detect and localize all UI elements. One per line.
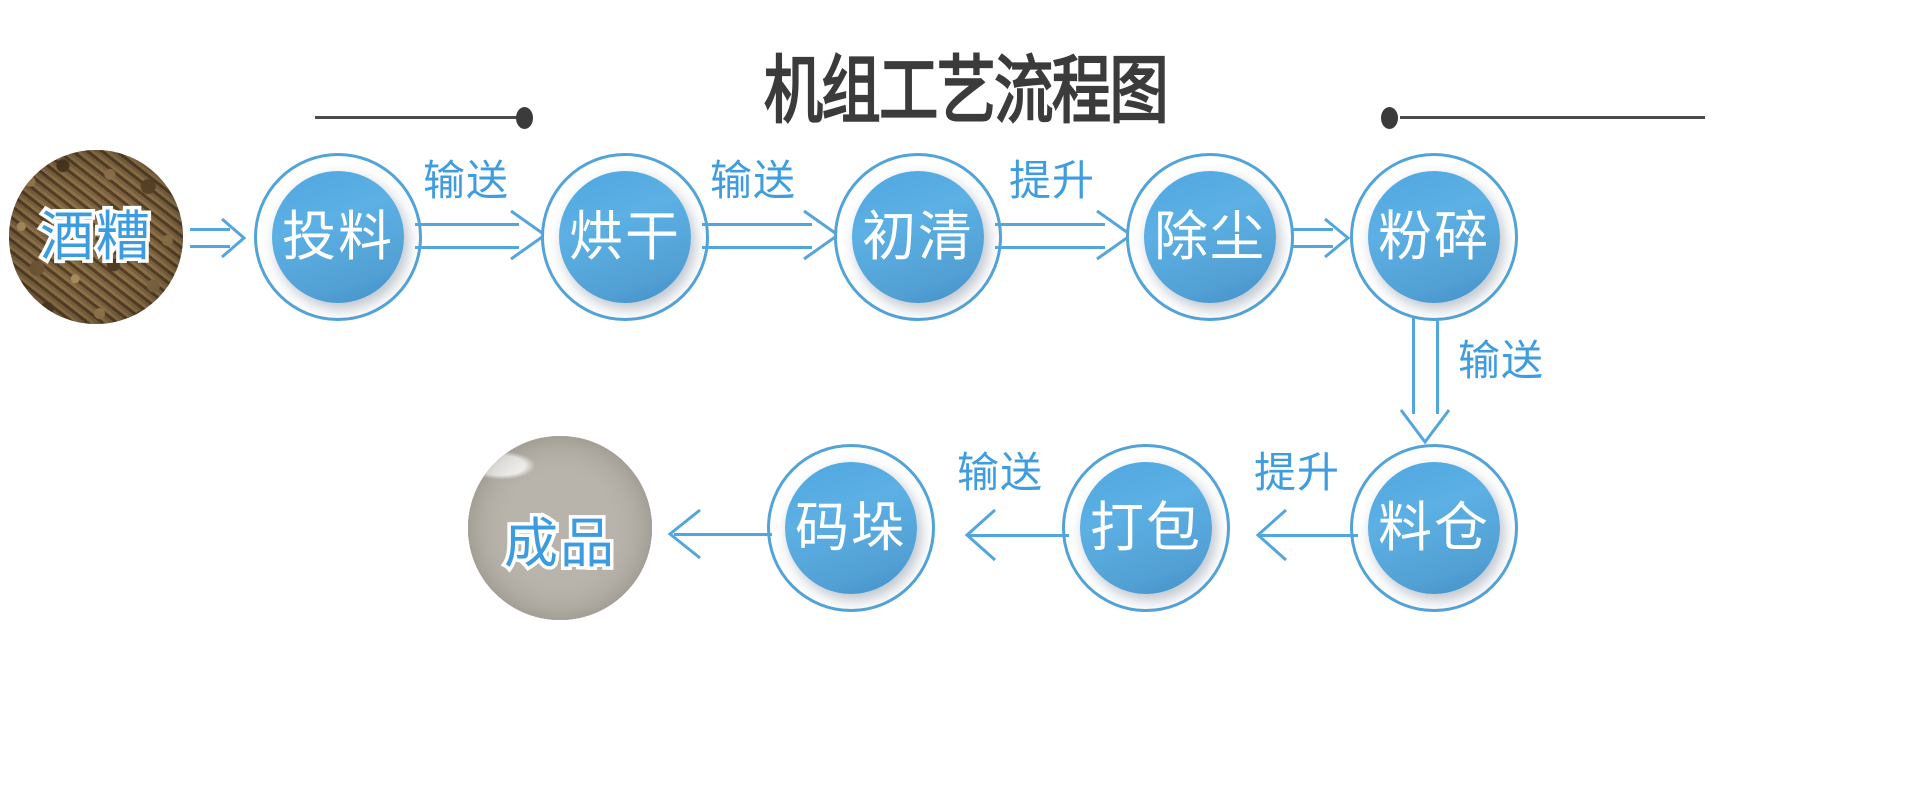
jiuzao-photo: 酒糟 <box>9 150 183 324</box>
liaocang-disc: 料仓 <box>1368 462 1500 594</box>
node-label-touliao: 投料 <box>282 210 394 264</box>
arrow-maduo-chengpin <box>648 508 772 560</box>
node-label-maduo: 码垛 <box>795 501 907 555</box>
fensui-disc: 粉碎 <box>1368 171 1500 303</box>
arrow-honggan-chuqing: 输送 <box>702 160 842 264</box>
title-rule-right <box>1400 116 1705 119</box>
node-label-jiuzao: 酒糟 <box>40 210 152 264</box>
arrow-fensui-liaocang: 输送 <box>1396 318 1576 448</box>
node-label-honggan: 烘干 <box>569 210 681 264</box>
flow-diagram-canvas: 机组工艺流程图 酒糟 投料 输送 <box>0 0 1931 797</box>
arrowhead-icon <box>995 160 1135 264</box>
chengpin-photo: 成品 <box>468 436 652 620</box>
node-chuqing[interactable]: 初清 <box>834 153 1002 321</box>
page-title: 机组工艺流程图 <box>0 30 1931 140</box>
chuqing-disc: 初清 <box>852 171 984 303</box>
node-chuchen[interactable]: 除尘 <box>1126 153 1294 321</box>
node-chengpin[interactable]: 成品 <box>468 436 652 620</box>
node-label-chuchen: 除尘 <box>1154 210 1266 264</box>
arrow-chuqing-chuchen: 提升 <box>995 160 1135 264</box>
arrow-jiuzao-touliao <box>190 215 250 261</box>
arrowhead-icon <box>1293 215 1355 261</box>
arrowhead-icon <box>941 452 1069 556</box>
node-honggan[interactable]: 烘干 <box>541 153 709 321</box>
node-fensui[interactable]: 粉碎 <box>1350 153 1518 321</box>
touliao-disc: 投料 <box>272 171 404 303</box>
arrowhead-icon <box>702 160 842 264</box>
arrowhead-icon <box>1236 452 1358 556</box>
node-jiuzao[interactable]: 酒糟 <box>9 150 183 324</box>
node-label-chengpin: 成品 <box>504 517 616 571</box>
node-label-liaocang: 料仓 <box>1378 501 1490 555</box>
arrowhead-icon <box>190 215 250 261</box>
arrow-chuchen-fensui <box>1293 215 1355 261</box>
maduo-disc: 码垛 <box>785 462 917 594</box>
node-label-fensui: 粉碎 <box>1378 210 1490 264</box>
arrowhead-icon <box>648 508 772 560</box>
arrow-dabao-maduo: 输送 <box>941 452 1069 556</box>
node-liaocang[interactable]: 料仓 <box>1350 444 1518 612</box>
chuchen-disc: 除尘 <box>1144 171 1276 303</box>
title-dot-right <box>1381 107 1398 129</box>
honggan-disc: 烘干 <box>559 171 691 303</box>
node-touliao[interactable]: 投料 <box>254 153 422 321</box>
node-maduo[interactable]: 码垛 <box>767 444 935 612</box>
arrow-liaocang-dabao: 提升 <box>1236 452 1358 556</box>
arrowhead-icon <box>415 160 549 264</box>
arrow-touliao-honggan: 输送 <box>415 160 549 264</box>
node-dabao[interactable]: 打包 <box>1062 444 1230 612</box>
dabao-disc: 打包 <box>1080 462 1212 594</box>
node-label-chuqing: 初清 <box>862 210 974 264</box>
node-label-dabao: 打包 <box>1090 501 1202 555</box>
arrowhead-icon <box>1396 318 1576 448</box>
